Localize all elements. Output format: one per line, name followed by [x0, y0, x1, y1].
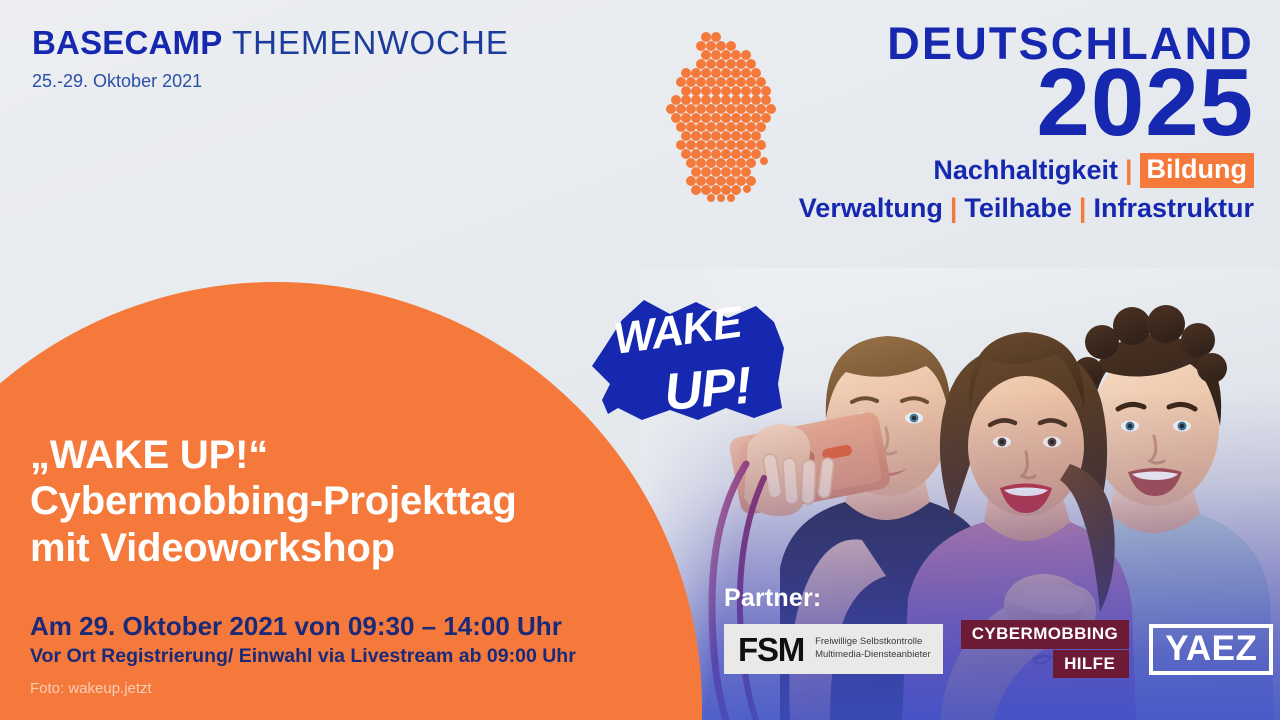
fsm-subtitle: Freiwillige Selbstkontrolle Multimedia-D… [815, 636, 931, 662]
tag-separator: | [950, 193, 958, 224]
fsm-wordmark: FSM [738, 633, 804, 666]
page-title: BASECAMP THEMENWOCHE [32, 26, 509, 59]
wake-up-badge: WAKE UP! [578, 292, 790, 432]
logo-tags-row-2: Verwaltung | Teilhabe | Infrastruktur [799, 193, 1254, 224]
promo-title: „WAKE UP!“ Cybermobbing-Projekttag mit V… [30, 432, 670, 571]
tag-verwaltung: Verwaltung [799, 193, 943, 224]
logo-year: 2025 [1036, 62, 1254, 145]
deutschland-2025-logo: DEUTSCHLAND 2025 Nachhaltigkeit | Bildun… [665, 22, 1254, 224]
cmh-line-2: HILFE [1053, 650, 1129, 679]
tag-nachhaltigkeit: Nachhaltigkeit [933, 155, 1118, 186]
tag-separator: | [1125, 155, 1133, 186]
promo-registration-note: Vor Ort Registrierung/ Einwahl via Lives… [30, 645, 670, 668]
promo-title-line-2: Cybermobbing-Projekttag [30, 478, 670, 524]
promo-title-line-3: mit Videoworkshop [30, 525, 670, 571]
germany-dot-map-icon [665, 30, 785, 202]
header: BASECAMP THEMENWOCHE 25.-29. Oktober 202… [32, 26, 509, 92]
logo-tags-row-1: Nachhaltigkeit | Bildung [933, 153, 1254, 188]
partner-logo-cybermobbing-hilfe[interactable]: CYBERMOBBING HILFE [961, 620, 1129, 678]
brand-basecamp: BASECAMP [32, 24, 222, 61]
promo-block: „WAKE UP!“ Cybermobbing-Projekttag mit V… [30, 432, 670, 697]
partners-block: Partner: FSM Freiwillige Selbstkontrolle… [724, 584, 1273, 678]
cmh-line-1: CYBERMOBBING [961, 620, 1129, 649]
poster-canvas: BASECAMP THEMENWOCHE 25.-29. Oktober 202… [0, 0, 1280, 720]
svg-text:UP!: UP! [662, 357, 754, 422]
event-date-range: 25.-29. Oktober 2021 [32, 71, 509, 92]
tag-teilhabe: Teilhabe [964, 193, 1072, 224]
partners-label: Partner: [724, 584, 1273, 613]
tag-infrastruktur: Infrastruktur [1093, 193, 1254, 224]
fsm-subtitle-line-1: Freiwillige Selbstkontrolle [815, 636, 931, 649]
photo-credit: Foto: wakeup.jetzt [30, 680, 670, 697]
promo-title-line-1: „WAKE UP!“ [30, 432, 670, 478]
fsm-subtitle-line-2: Multimedia-Diensteanbieter [815, 649, 931, 662]
partner-logo-yaez[interactable]: YAEZ [1149, 624, 1273, 675]
partner-logo-row: FSM Freiwillige Selbstkontrolle Multimed… [724, 620, 1273, 678]
promo-datetime: Am 29. Oktober 2021 von 09:30 – 14:00 Uh… [30, 611, 670, 642]
yaez-wordmark: YAEZ [1165, 631, 1257, 666]
brand-themenwoche: THEMENWOCHE [222, 24, 508, 61]
tag-bildung: Bildung [1140, 153, 1254, 188]
partner-logo-fsm[interactable]: FSM Freiwillige Selbstkontrolle Multimed… [724, 624, 943, 674]
tag-separator: | [1079, 193, 1087, 224]
